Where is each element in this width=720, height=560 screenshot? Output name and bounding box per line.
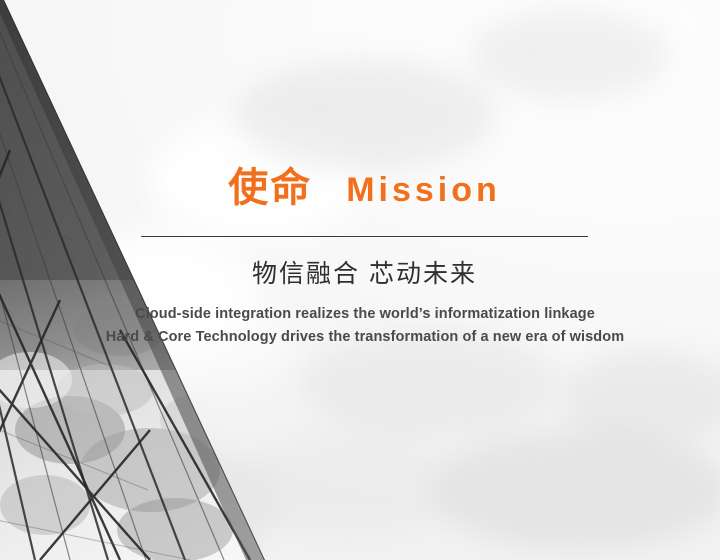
page-title-en: Mission	[346, 173, 501, 207]
mission-line-2: Hard & Core Technology drives the transf…	[60, 326, 670, 349]
title-divider-rule	[141, 236, 588, 237]
slide-subtitle: 物信融合 芯动未来	[141, 258, 588, 291]
page-title-cn: 使命	[228, 168, 312, 208]
page-title: 使命 Mission	[141, 168, 588, 208]
mission-slide: 使命 Mission 物信融合 芯动未来 Cloud-side integrat…	[0, 0, 720, 560]
mission-line-1: Cloud-side integration realizes the worl…	[60, 303, 670, 326]
mission-statement: Cloud-side integration realizes the worl…	[60, 303, 670, 349]
slide-content: 使命 Mission 物信融合 芯动未来 Cloud-side integrat…	[0, 0, 720, 560]
